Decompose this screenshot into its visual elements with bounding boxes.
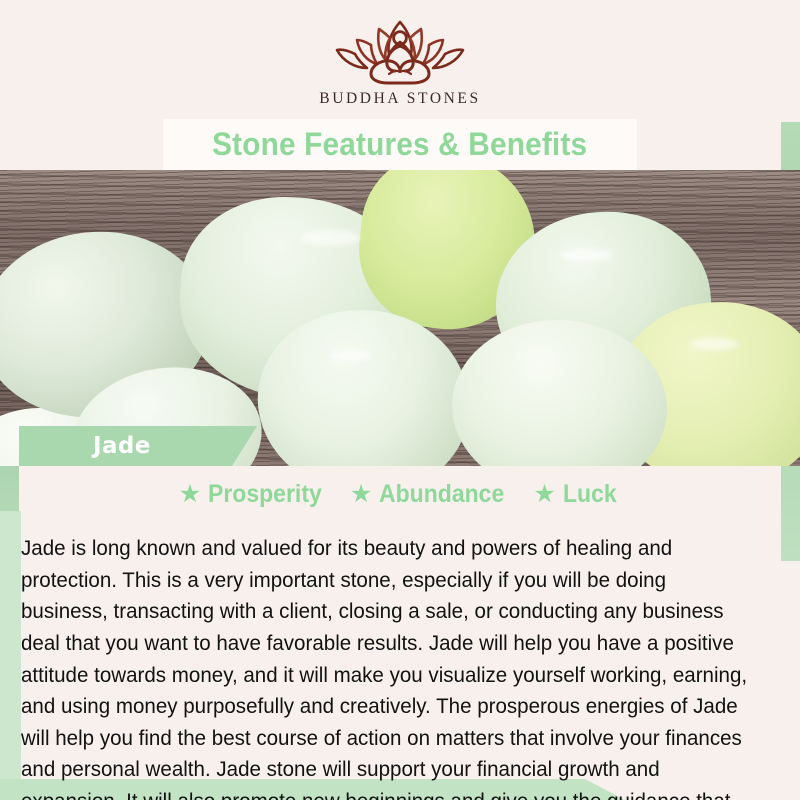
keyword-label: Abundance [379, 480, 504, 509]
decor-band-left-lower [0, 511, 21, 800]
stone-description: Jade is long known and valued for its be… [21, 533, 758, 800]
keyword-label: Luck [563, 480, 617, 509]
hero-photo [0, 170, 800, 466]
stone-info-card: BUDDHA STONES Stone Features & Benefits … [0, 0, 800, 800]
keyword-label: Prosperity [208, 480, 322, 509]
lotus-meditation-icon [327, 14, 473, 88]
keyword-item-luck: ★ Luck [533, 480, 621, 509]
keyword-item-abundance: ★ Abundance [350, 480, 516, 509]
brand-name: BUDDHA STONES [0, 90, 800, 108]
keyword-list: ★ Prosperity ★ Abundance ★ Luck [0, 478, 800, 510]
brand-logo: BUDDHA STONES [0, 14, 800, 108]
star-icon: ★ [350, 482, 372, 507]
page-title: Stone Features & Benefits [212, 126, 587, 163]
brand-header: BUDDHA STONES [0, 0, 800, 122]
stone-name-badge: Jade [19, 426, 257, 466]
star-icon: ★ [533, 482, 555, 507]
star-icon: ★ [179, 482, 201, 507]
stone-name-label: Jade [93, 433, 151, 459]
section-title-banner: Stone Features & Benefits [163, 119, 637, 170]
keyword-item-prosperity: ★ Prosperity [179, 480, 332, 509]
